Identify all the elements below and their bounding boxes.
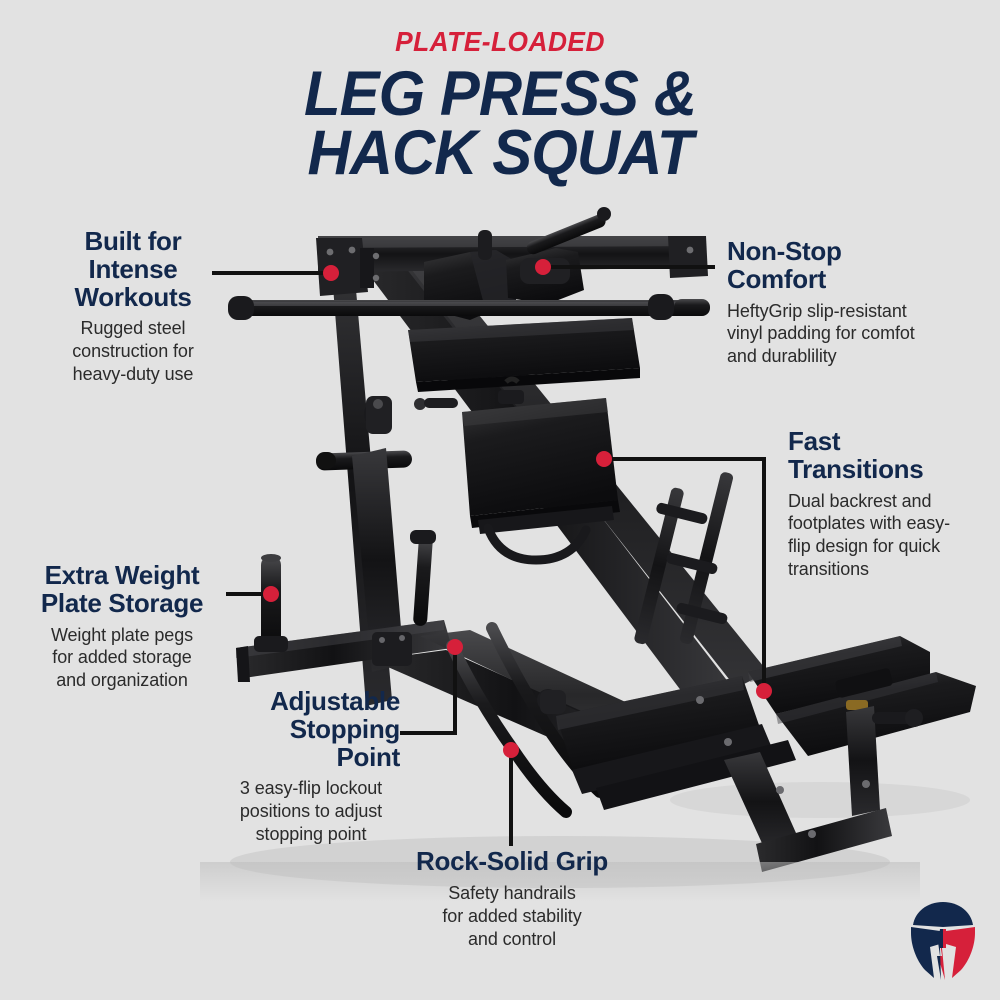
- callout-dot-rock-solid-grip: [503, 742, 519, 758]
- body-line-3: and organization: [56, 670, 188, 690]
- leader-line-fast-transitions-vertical: [762, 457, 766, 689]
- heading-line-2: Stopping: [290, 714, 400, 744]
- backrest-pad: [408, 318, 640, 392]
- body-line-1: HeftyGrip slip-resistant: [727, 301, 907, 321]
- body-line-2: for added stability: [442, 906, 581, 926]
- body-line-3: and control: [468, 929, 556, 949]
- callout-heading-fast-transitions: Fast Transitions: [788, 428, 988, 484]
- callout-body-non-stop-comfort: HeftyGrip slip-resistant vinyl padding f…: [727, 300, 957, 369]
- callout-body-adjustable-stopping-point: 3 easy-flip lockout positions to adjust …: [222, 777, 400, 846]
- heading-line-2: Intense: [89, 254, 178, 284]
- infographic-canvas: PLATE-LOADED LEG PRESS & HACK SQUAT Buil…: [0, 0, 1000, 1000]
- spartan-helmet-logo: [904, 900, 982, 982]
- callout-body-built-for-intense-workouts: Rugged steel construction for heavy-duty…: [48, 317, 218, 386]
- callout-dot-built-for-intense-workouts: [323, 265, 339, 281]
- body-line-2: vinyl padding for comfot: [727, 323, 915, 343]
- callout-dot-fast-transitions-seat: [596, 451, 612, 467]
- callout-adjustable-stopping-point: Adjustable Stopping Point 3 easy-flip lo…: [222, 688, 400, 846]
- heading-line-1: Built for: [85, 226, 182, 256]
- heading-line-2: Plate Storage: [41, 588, 203, 618]
- lower-handle-bar: [410, 530, 436, 626]
- callout-body-fast-transitions: Dual backrest and footplates with easy- …: [788, 490, 988, 581]
- body-line-1: Safety handrails: [448, 883, 575, 903]
- heading-line-1: Adjustable: [270, 686, 400, 716]
- callout-heading-rock-solid-grip: Rock-Solid Grip: [404, 848, 620, 876]
- leader-line-fast-transitions-horizontal: [605, 457, 765, 461]
- body-line-3: heavy-duty use: [73, 364, 194, 384]
- callout-body-rock-solid-grip: Safety handrails for added stability and…: [404, 882, 620, 951]
- body-line-2: for added storage: [52, 647, 191, 667]
- body-line-3: and durablility: [727, 346, 837, 366]
- callout-heading-non-stop-comfort: Non-Stop Comfort: [727, 238, 957, 294]
- body-line-3: flip design for quick: [788, 536, 940, 556]
- callout-non-stop-comfort: Non-Stop Comfort HeftyGrip slip-resistan…: [727, 238, 957, 368]
- eyebrow-text: PLATE-LOADED: [30, 28, 970, 56]
- leader-line-rock-solid-grip: [509, 750, 513, 846]
- title-block: PLATE-LOADED LEG PRESS & HACK SQUAT: [0, 28, 1000, 182]
- callout-rock-solid-grip: Rock-Solid Grip Safety handrails for add…: [404, 848, 620, 950]
- body-line-1: 3 easy-flip lockout: [240, 778, 382, 798]
- leader-line-adjustable-stopping-point-vertical: [453, 647, 457, 735]
- callout-extra-weight-plate-storage: Extra Weight Plate Storage Weight plate …: [16, 562, 228, 692]
- heading-line-3: Workouts: [74, 282, 191, 312]
- body-line-3: stopping point: [256, 824, 367, 844]
- page-title: LEG PRESS & HACK SQUAT: [25, 65, 975, 182]
- callout-heading-extra-weight-plate-storage: Extra Weight Plate Storage: [16, 562, 228, 618]
- callout-body-extra-weight-plate-storage: Weight plate pegs for added storage and …: [16, 624, 228, 693]
- heading-line-1: Non-Stop: [727, 236, 842, 266]
- heading-line-1: Extra Weight: [45, 560, 200, 590]
- callout-dot-adjustable-stopping-point: [447, 639, 463, 655]
- adjustment-hardware: [364, 396, 458, 434]
- leader-line-built-for-intense-workouts: [212, 271, 330, 275]
- heading-line-1: Rock-Solid Grip: [416, 846, 608, 876]
- callout-dot-fast-transitions-footplate: [756, 683, 772, 699]
- body-line-1: Dual backrest and: [788, 491, 931, 511]
- heading-line-1: Fast: [788, 426, 840, 456]
- callout-dot-extra-weight-plate-storage: [263, 586, 279, 602]
- heading-line-3: Point: [337, 742, 401, 772]
- body-line-1: Weight plate pegs: [51, 625, 193, 645]
- callout-heading-built-for-intense-workouts: Built for Intense Workouts: [48, 228, 218, 311]
- body-line-2: construction for: [72, 341, 193, 361]
- leader-line-non-stop-comfort: [545, 265, 715, 269]
- heading-line-2: Transitions: [788, 454, 923, 484]
- body-line-2: footplates with easy-: [788, 513, 950, 533]
- callout-dot-non-stop-comfort: [535, 259, 551, 275]
- callout-fast-transitions: Fast Transitions Dual backrest and footp…: [788, 428, 988, 581]
- leader-line-adjustable-stopping-point-horizontal: [400, 731, 457, 735]
- title-line-2: HACK SQUAT: [25, 124, 975, 183]
- body-line-4: transitions: [788, 559, 869, 579]
- callout-built-for-intense-workouts: Built for Intense Workouts Rugged steel …: [48, 228, 218, 386]
- handrail-hardware: [537, 689, 566, 714]
- body-line-1: Rugged steel: [81, 318, 186, 338]
- body-line-2: positions to adjust: [240, 801, 382, 821]
- heading-line-2: Comfort: [727, 264, 826, 294]
- callout-heading-adjustable-stopping-point: Adjustable Stopping Point: [222, 688, 400, 771]
- weight-plate-peg: [261, 556, 281, 650]
